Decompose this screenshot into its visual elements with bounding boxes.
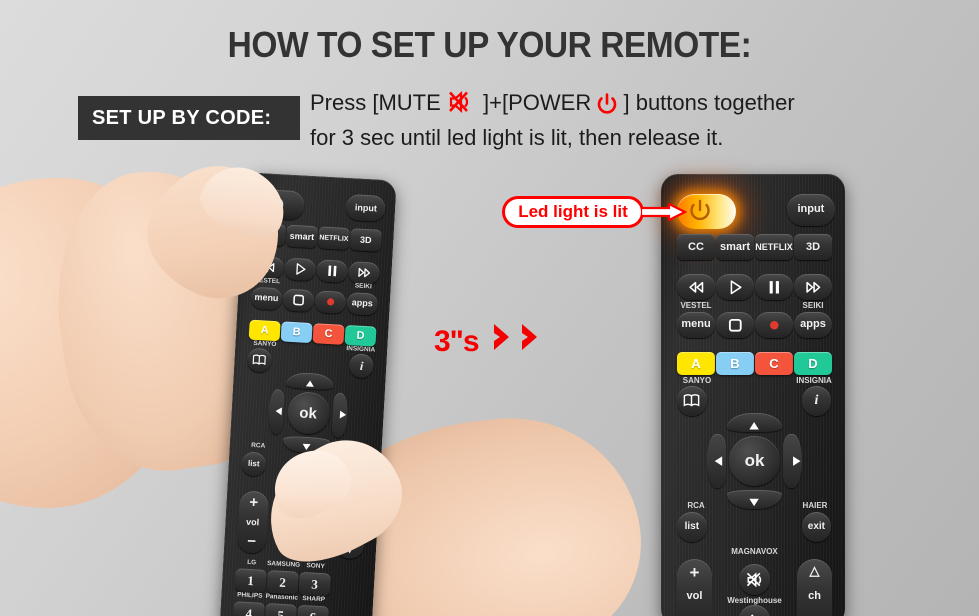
brand-label-westinghouse: Westinghouse xyxy=(715,597,795,605)
arrow-left-icon xyxy=(710,453,726,469)
dpad-up-button[interactable] xyxy=(286,372,333,390)
dpad-left-button[interactable] xyxy=(267,388,285,434)
brand-label-rca: RCA xyxy=(240,442,277,451)
media-button-smart[interactable]: smart xyxy=(286,225,318,249)
transport-button-pause[interactable] xyxy=(316,259,348,282)
transport-button-play[interactable] xyxy=(284,257,316,280)
keypad-digit-6[interactable]: 6 xyxy=(297,605,329,616)
menu-button-apps[interactable]: apps xyxy=(346,292,378,315)
color-button-a[interactable]: A xyxy=(677,352,715,375)
keypad-digit-4[interactable]: 4 xyxy=(233,601,265,616)
list-button[interactable]: list xyxy=(677,512,707,542)
media-button-3d[interactable]: 3D xyxy=(794,234,832,260)
chevron-right-icon xyxy=(492,322,518,352)
menu-button-home[interactable] xyxy=(716,312,754,338)
page-title: HOW TO SET UP YOUR REMOTE: xyxy=(34,24,944,66)
media-button-cc[interactable]: CC xyxy=(677,234,715,260)
volume-up-label: + xyxy=(249,495,259,510)
media-button-smart[interactable]: smart xyxy=(716,234,754,260)
brand-label-sanyo: SANYO xyxy=(246,340,283,349)
info-button[interactable]: i xyxy=(802,386,832,416)
ok-button[interactable]: ok xyxy=(286,391,330,435)
color-button-c[interactable]: C xyxy=(313,323,345,344)
arrow-right-icon xyxy=(789,453,805,469)
brand-label-seiki: SEIKI xyxy=(348,283,379,291)
header: HOW TO SET UP YOUR REMOTE: SET UP BY COD… xyxy=(0,0,979,160)
volume-label: vol xyxy=(246,517,259,527)
exit-button[interactable]: exit xyxy=(802,512,832,542)
guide-book-icon xyxy=(251,352,267,368)
keypad-digit-2[interactable]: 2 xyxy=(266,570,298,595)
setup-by-code-badge: SET UP BY CODE: xyxy=(78,96,300,140)
keypad-digit-1[interactable]: 1 xyxy=(235,568,267,593)
keypad-brand-philips: PHILIPS xyxy=(232,592,267,600)
brand-label-magnavox: MAGNAVOX xyxy=(717,548,793,556)
color-button-a[interactable]: A xyxy=(249,320,281,341)
power-icon xyxy=(688,199,712,223)
color-button-d[interactable]: D xyxy=(794,352,832,375)
color-button-c[interactable]: C xyxy=(755,352,793,375)
channel-label: ch xyxy=(808,591,821,602)
led-callout: Led light is lit xyxy=(502,196,644,228)
back-button[interactable] xyxy=(739,605,769,616)
play-icon xyxy=(292,261,308,277)
color-button-d[interactable]: D xyxy=(344,325,376,346)
arrow-up-icon xyxy=(303,377,317,391)
keypad-brand-sony: SONY xyxy=(298,563,333,571)
brand-label-vestel: VESTEL xyxy=(677,302,715,310)
transport-button-forward[interactable] xyxy=(794,274,832,300)
input-button[interactable]: input xyxy=(346,194,386,222)
input-button[interactable]: input xyxy=(787,194,835,226)
home-icon xyxy=(726,316,745,335)
instruction-line-1b: ]+[POWER xyxy=(483,90,591,115)
menu-button-record[interactable] xyxy=(755,312,793,338)
forward-icon xyxy=(356,264,372,280)
guide-button[interactable] xyxy=(247,348,272,373)
mute-button[interactable] xyxy=(739,564,771,596)
home-icon xyxy=(290,292,306,308)
pause-icon xyxy=(324,263,340,279)
pause-icon xyxy=(765,278,784,297)
volume-button[interactable]: +vol− xyxy=(677,559,712,616)
arrow-left-icon xyxy=(271,404,285,418)
transport-button-forward[interactable] xyxy=(348,261,380,284)
dpad-right-button[interactable] xyxy=(331,392,349,438)
power-icon xyxy=(597,93,617,123)
volume-button[interactable]: +vol− xyxy=(237,490,269,553)
rewind-icon xyxy=(687,278,706,297)
instruction-line-2: for 3 sec until led light is lit, then r… xyxy=(310,123,910,153)
volume-up-label: + xyxy=(690,564,700,581)
color-button-b[interactable]: B xyxy=(716,352,754,375)
ok-button[interactable]: ok xyxy=(729,436,779,486)
duration-label: 3"s xyxy=(434,325,479,359)
guide-button[interactable] xyxy=(677,386,707,416)
menu-button-apps[interactable]: apps xyxy=(794,312,832,338)
forward-icon xyxy=(804,278,823,297)
brand-label-seiki: SEIKI xyxy=(794,302,832,310)
dpad-left-button[interactable] xyxy=(707,434,726,488)
dpad-right-button[interactable] xyxy=(783,434,802,488)
arrow-down-icon xyxy=(746,494,762,510)
list-button[interactable]: list xyxy=(241,451,266,476)
arrow-up-icon xyxy=(746,418,762,434)
channel-up-label: △ xyxy=(810,564,820,577)
brand-label-haier: HAIER xyxy=(792,502,838,510)
keypad-digit-5[interactable]: 5 xyxy=(265,603,297,616)
channel-button[interactable]: △ch▽ xyxy=(797,559,832,616)
record-icon xyxy=(322,294,338,310)
brand-label-sanyo: SANYO xyxy=(675,377,719,385)
mute-icon xyxy=(447,89,477,123)
media-button-netflix[interactable]: NETFLIX xyxy=(755,234,793,260)
remote-right: inputCCsmartNETFLIX3DVESTELSEIKImenuapps… xyxy=(661,174,845,616)
instruction-line-1a: Press [MUTE xyxy=(310,90,441,115)
guide-book-icon xyxy=(682,391,701,410)
volume-down-label: − xyxy=(690,611,700,616)
brand-label-rca: RCA xyxy=(674,502,718,510)
play-icon xyxy=(726,278,745,297)
keypad-brand-samsung: SAMSUNG xyxy=(266,561,301,569)
transport-button-rewind[interactable] xyxy=(677,274,715,300)
chevron-group xyxy=(492,322,546,352)
dpad-up-button[interactable] xyxy=(727,413,783,432)
color-button-b[interactable]: B xyxy=(281,321,313,342)
keypad-brand-lg: LG xyxy=(234,559,269,567)
chevron-right-icon xyxy=(520,322,546,352)
menu-button-home[interactable] xyxy=(282,288,314,311)
info-button[interactable]: i xyxy=(349,353,374,378)
dpad-down-button[interactable] xyxy=(727,490,783,509)
back-icon xyxy=(745,611,764,616)
keypad-brand-sharp: SHARP xyxy=(296,596,331,604)
menu-button-menu[interactable]: menu xyxy=(250,287,282,310)
menu-button-record[interactable] xyxy=(314,290,346,313)
transport-button-pause[interactable] xyxy=(755,274,793,300)
arrow-right-icon xyxy=(641,203,687,221)
menu-button-menu[interactable]: menu xyxy=(677,312,715,338)
instruction-text: Press [MUTE ]+[POWER ] buttons together … xyxy=(310,88,910,153)
volume-label: vol xyxy=(687,591,703,602)
keypad-brand-panasonic: Panasonic xyxy=(264,594,299,602)
media-button-netflix[interactable]: NETFLIX xyxy=(318,226,350,250)
mute-icon xyxy=(745,570,765,590)
instruction-line-1: Press [MUTE ]+[POWER ] buttons together xyxy=(310,88,910,123)
brand-label-insignia: INSIGNIA xyxy=(790,377,838,385)
media-button-3d[interactable]: 3D xyxy=(350,228,382,252)
instruction-line-1c: ] buttons together xyxy=(623,90,794,115)
keypad-digit-3[interactable]: 3 xyxy=(298,572,330,597)
volume-down-label: − xyxy=(247,534,257,549)
transport-button-play[interactable] xyxy=(716,274,754,300)
arrow-right-icon xyxy=(336,408,350,422)
record-icon xyxy=(765,316,784,335)
brand-label-insignia: INSIGNIA xyxy=(340,345,381,354)
